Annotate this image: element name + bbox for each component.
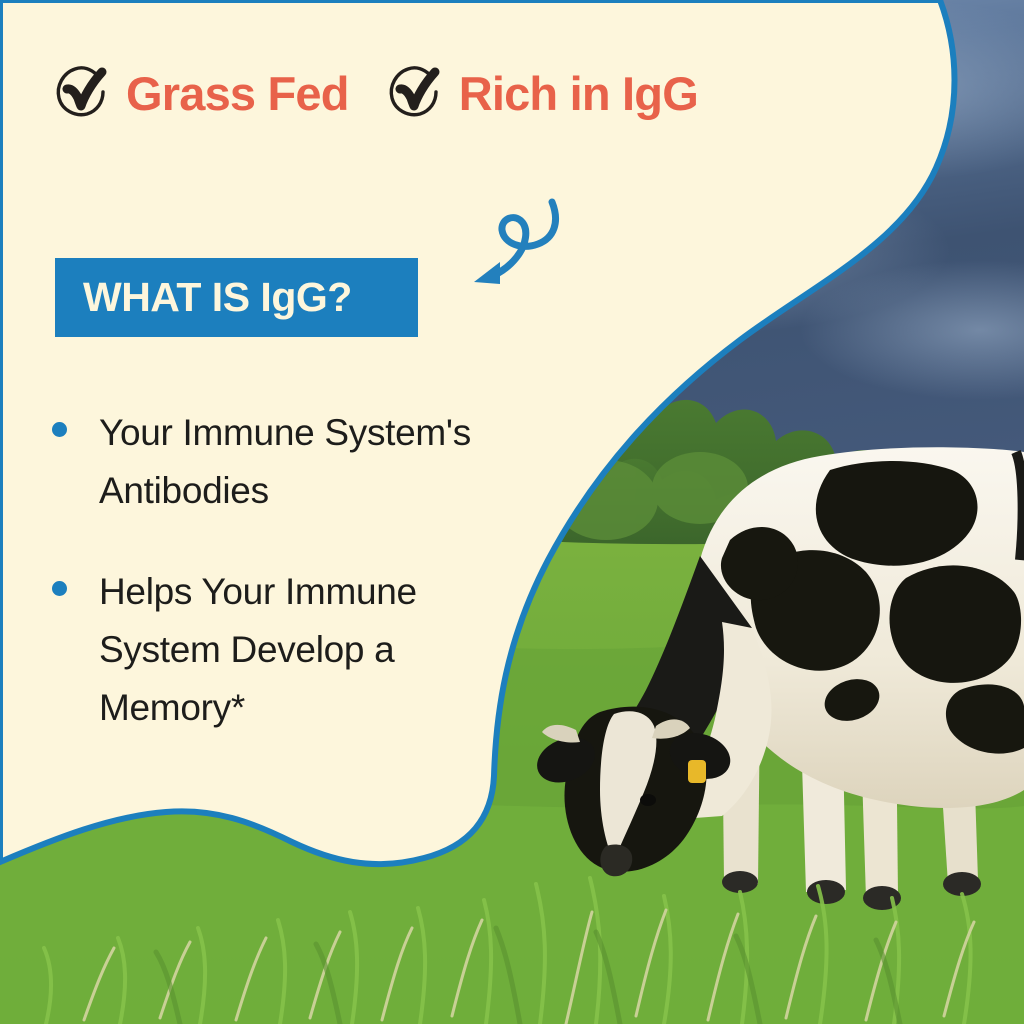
list-item: Your Immune System's Antibodies [52,404,492,519]
bullet-dot-icon [52,422,67,437]
bullet-text: Your Immune System's Antibodies [99,404,492,519]
list-item: Helps Your Immune System Develop a Memor… [52,563,492,736]
badge-row: Grass Fed Rich in IgG [50,62,698,124]
check-circle-icon [50,62,112,124]
content-layer: Grass Fed Rich in IgG WHAT IS IgG? You [0,0,1024,1024]
section-heading-banner: WHAT IS IgG? [55,258,418,337]
badge-grass-fed: Grass Fed [50,62,349,124]
check-circle-icon [383,62,445,124]
badge-label: Grass Fed [126,70,349,117]
badge-label: Rich in IgG [459,70,698,117]
bullet-text: Helps Your Immune System Develop a Memor… [99,563,492,736]
curly-arrow-icon [466,196,576,292]
badge-rich-in-igg: Rich in IgG [383,62,698,124]
bullet-dot-icon [52,581,67,596]
infographic-canvas: Grass Fed Rich in IgG WHAT IS IgG? You [0,0,1024,1024]
bullet-list: Your Immune System's Antibodies Helps Yo… [52,404,492,781]
section-heading-text: WHAT IS IgG? [55,277,352,318]
